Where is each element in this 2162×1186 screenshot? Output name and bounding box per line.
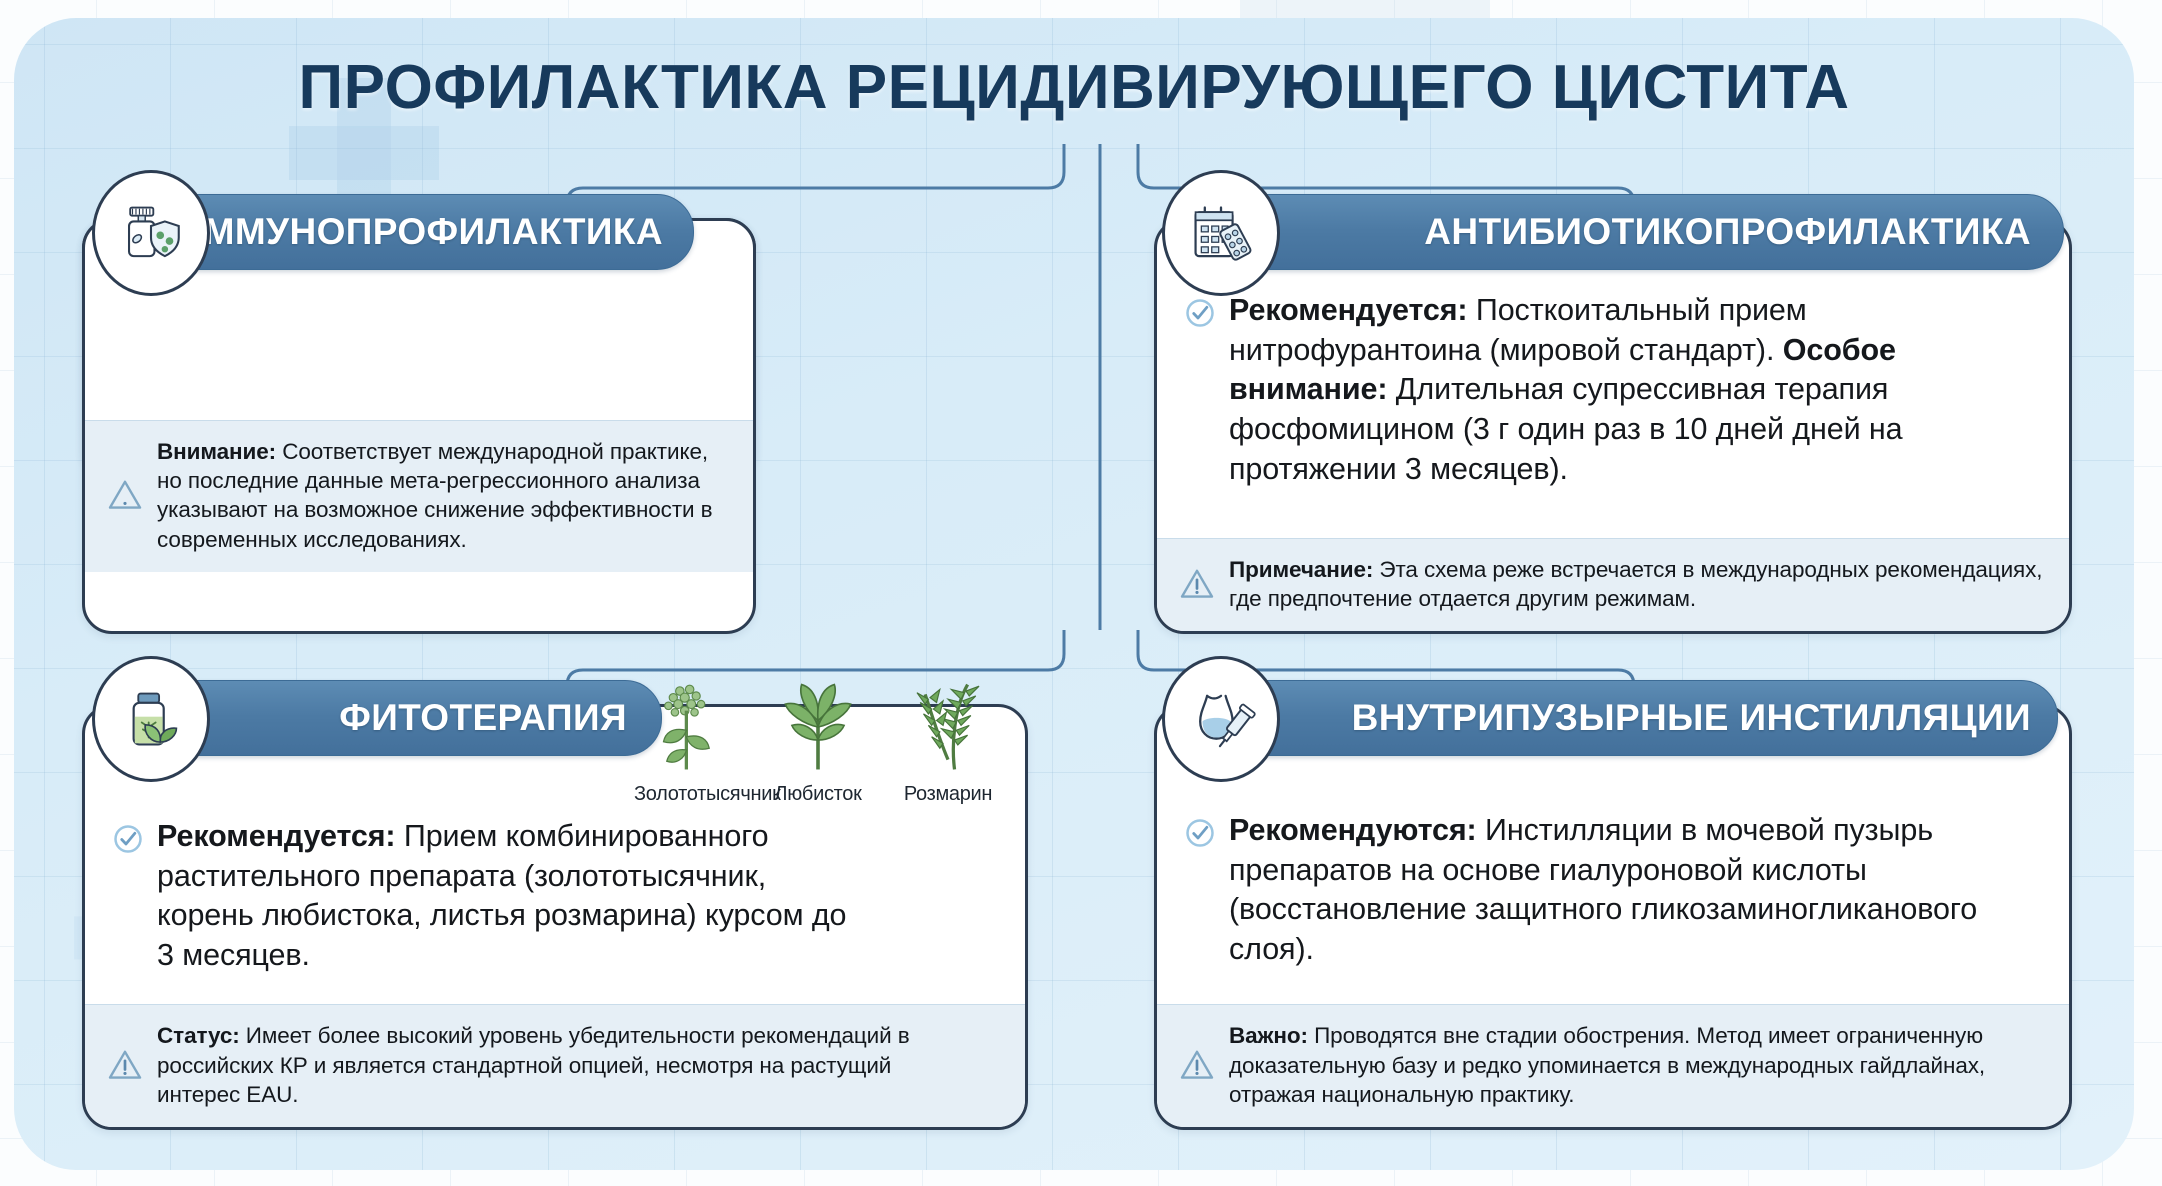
note-block: Статус: Имеет более высокий уровень убед… <box>85 1004 1025 1127</box>
herb-label: Розмарин <box>894 783 1002 806</box>
warning-triangle-icon <box>107 477 143 513</box>
recommendation-label: Рекомендуются: <box>1229 813 1477 847</box>
herb-item: Золототысячник <box>634 678 742 806</box>
calendar-pills-icon <box>1184 196 1258 270</box>
badge-intravesical-instillations <box>1162 656 1280 782</box>
centaury-plant-icon <box>638 678 738 776</box>
note-label: Внимание: <box>157 439 276 464</box>
header-label: ИММУНОПРОФИЛАКТИКА <box>177 211 663 253</box>
card-intravesical-instillations: Рекомендуются: Инстилляции в мочевой пуз… <box>1154 704 2072 1130</box>
recommendation-row: Рекомендуется: Прием комбинированного ра… <box>113 817 995 976</box>
recommendation-text: Рекомендуется: Прием комбинированного ра… <box>157 817 847 976</box>
recommendation-label: Рекомендуется: <box>1229 293 1468 327</box>
recommendation-label: Рекомендуется: <box>157 819 396 853</box>
note-text: Внимание: Соответствует международной пр… <box>157 437 727 554</box>
lovage-leaf-icon <box>768 678 868 776</box>
header-pill-phytotherapy[interactable]: ФИТОТЕРАПИЯ <box>162 680 662 756</box>
header-label: ФИТОТЕРАПИЯ <box>339 697 627 739</box>
header-pill-immunoprophylaxis[interactable]: ИММУНОПРОФИЛАКТИКА <box>162 194 694 270</box>
rosemary-sprig-icon <box>898 678 998 776</box>
check-circle-icon <box>113 824 143 854</box>
note-block: Важно: Проводятся вне стадии обострения.… <box>1157 1004 2069 1127</box>
note-body: Имеет более высокий уровень убедительнос… <box>157 1023 910 1107</box>
bladder-syringe-icon <box>1184 682 1258 756</box>
badge-immunoprophylaxis <box>92 170 210 296</box>
note-block: Внимание: Соответствует международной пр… <box>85 420 753 572</box>
note-text: Примечание: Эта схема реже встречается в… <box>1229 555 2043 614</box>
badge-antibiotic-prophylaxis <box>1162 170 1280 296</box>
infographic-canvas: ПРОФИЛАКТИКА РЕЦИДИВИРУЮЩЕГО ЦИСТИТА Рек… <box>0 0 2162 1186</box>
warning-triangle-icon <box>1179 566 1215 602</box>
recommendation-row: Рекомендуются: Инстилляции в мочевой пуз… <box>1185 811 2039 970</box>
card-antibiotic-prophylaxis: Рекомендуется: Посткоитальный прием нитр… <box>1154 218 2072 634</box>
herb-label: Золототысячник <box>634 783 742 806</box>
recommendation-text: Рекомендуются: Инстилляции в мочевой пуз… <box>1229 811 2039 970</box>
recommendation-row: Рекомендуется: Посткоитальный прием нитр… <box>1185 291 2039 489</box>
vaccine-bottle-shield-icon <box>114 196 188 270</box>
note-label: Важно: <box>1229 1023 1308 1048</box>
header-label: АНТИБИОТИКОПРОФИЛАКТИКА <box>1424 211 2031 253</box>
header-pill-antibiotic-prophylaxis[interactable]: АНТИБИОТИКОПРОФИЛАКТИКА <box>1230 194 2064 270</box>
herb-gallery: Золототысячник Любисток <box>634 678 1002 806</box>
note-block: Примечание: Эта схема реже встречается в… <box>1157 538 2069 632</box>
note-body: Проводятся вне стадии обострения. Метод … <box>1229 1023 1985 1107</box>
check-circle-icon <box>1185 818 1215 848</box>
note-text: Важно: Проводятся вне стадии обострения.… <box>1229 1021 2043 1109</box>
warning-triangle-icon <box>107 1047 143 1083</box>
warning-triangle-icon <box>1179 1047 1215 1083</box>
note-label: Статус: <box>157 1023 240 1048</box>
page-title: ПРОФИЛАКТИКА РЕЦИДИВИРУЮЩЕГО ЦИСТИТА <box>14 52 2134 123</box>
herbal-bottle-leaf-icon <box>114 682 188 756</box>
badge-phytotherapy <box>92 656 210 782</box>
note-text: Статус: Имеет более высокий уровень убед… <box>157 1021 967 1109</box>
header-label: ВНУТРИПУЗЫРНЫЕ ИНСТИЛЛЯЦИИ <box>1352 697 2031 739</box>
recommendation-text: Рекомендуется: Посткоитальный прием нитр… <box>1229 291 2039 489</box>
main-panel: ПРОФИЛАКТИКА РЕЦИДИВИРУЮЩЕГО ЦИСТИТА Рек… <box>14 18 2134 1170</box>
herb-label: Любисток <box>764 783 872 806</box>
note-label: Примечание: <box>1229 557 1373 582</box>
check-circle-icon <box>1185 298 1215 328</box>
herb-item: Любисток <box>764 678 872 806</box>
herb-item: Розмарин <box>894 678 1002 806</box>
header-pill-intravesical-instillations[interactable]: ВНУТРИПУЗЫРНЫЕ ИНСТИЛЛЯЦИИ <box>1230 680 2058 756</box>
